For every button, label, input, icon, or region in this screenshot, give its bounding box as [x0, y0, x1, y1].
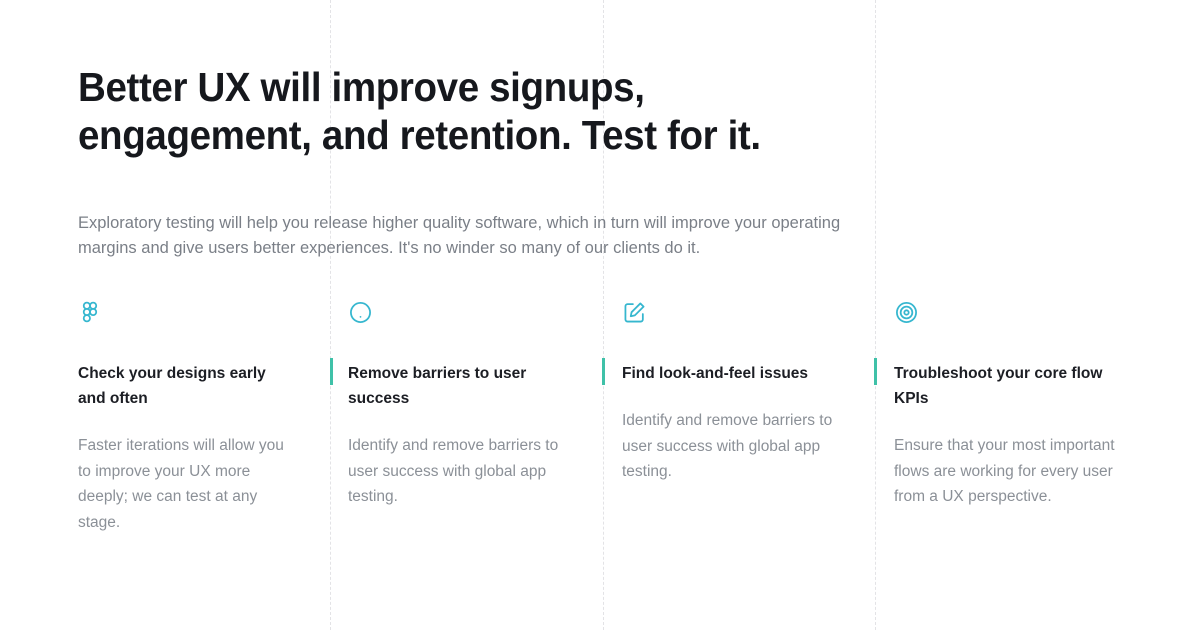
alert-circle-icon: [348, 300, 373, 325]
card-title: Find look-and-feel issues: [622, 361, 844, 386]
card-body: Faster iterations will allow you to impr…: [78, 433, 295, 535]
accent-bar: [602, 358, 605, 385]
marketing-hero-page: Better UX will improve signups, engageme…: [0, 0, 1200, 630]
feature-card: Check your designs early and often Faste…: [78, 300, 330, 535]
card-title: Check your designs early and often: [78, 361, 295, 411]
feature-card: Find look-and-feel issues Identify and r…: [602, 300, 874, 535]
edit-square-icon: [622, 300, 647, 325]
feature-card-grid: Check your designs early and often Faste…: [78, 300, 1148, 535]
card-body: Identify and remove barriers to user suc…: [622, 408, 844, 485]
figma-icon: [78, 300, 103, 325]
accent-bar: [874, 358, 877, 385]
content-wrapper: Better UX will improve signups, engageme…: [78, 0, 1148, 630]
page-headline: Better UX will improve signups, engageme…: [78, 63, 830, 159]
intro-paragraph: Exploratory testing will help you releas…: [78, 211, 878, 261]
card-title: Troubleshoot your core flow KPIs: [894, 361, 1128, 411]
feature-card: Remove barriers to user success Identify…: [330, 300, 602, 535]
accent-bar: [330, 358, 333, 385]
card-body: Identify and remove barriers to user suc…: [348, 433, 572, 510]
card-body: Ensure that your most important flows ar…: [894, 433, 1128, 510]
target-icon: [894, 300, 919, 325]
card-title: Remove barriers to user success: [348, 361, 572, 411]
feature-card: Troubleshoot your core flow KPIs Ensure …: [874, 300, 1148, 535]
